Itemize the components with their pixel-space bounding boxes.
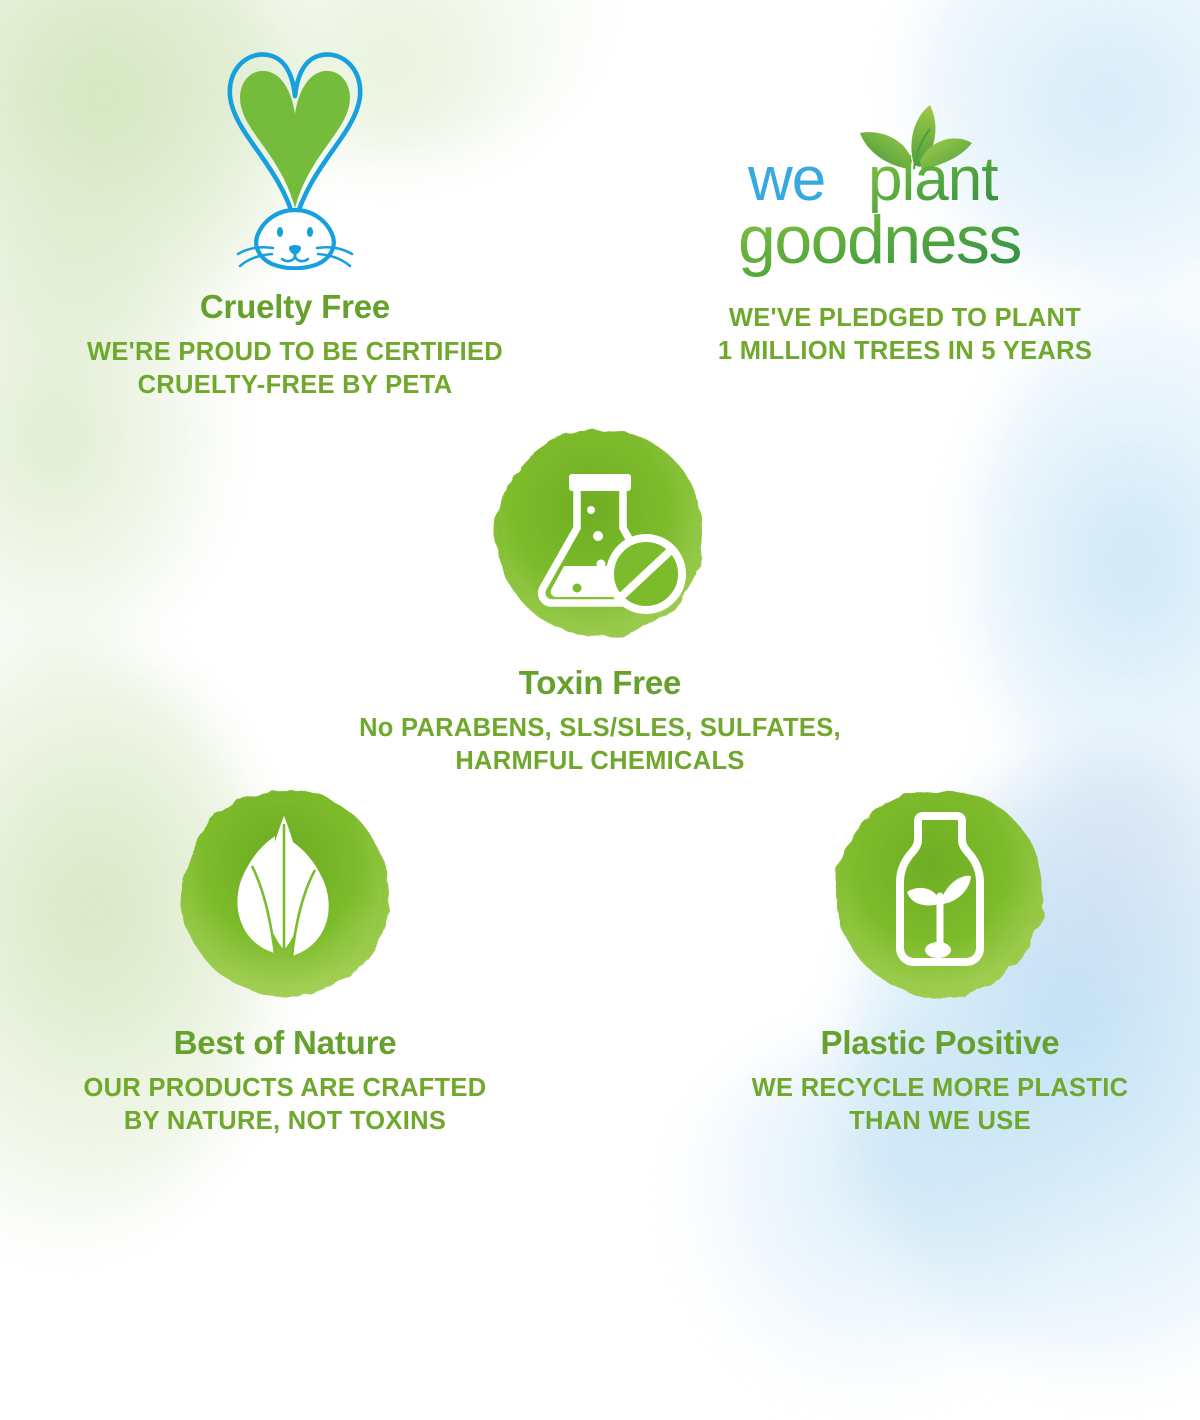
badge-we-plant-goodness: we plant goodness WE'VE PLEDGED TO PLANT… — [655, 95, 1155, 368]
badge-best-of-nature: Best of Nature OUR PRODUCTS ARE CRAFTED … — [35, 778, 535, 1138]
badge-body-line: WE RECYCLE MORE PLASTIC — [690, 1072, 1190, 1105]
badge-heading-plastic-positive: Plastic Positive — [690, 1026, 1190, 1061]
svg-text:goodness: goodness — [740, 202, 1021, 278]
badge-cruelty-free: Cruelty Free WE'RE PROUD TO BE CERTIFIED… — [45, 40, 545, 402]
badge-body-toxin-free: No PARABENS, SLS/SLES, SULFATES, HARMFUL… — [350, 712, 850, 778]
badge-body-line: HARMFUL CHEMICALS — [350, 745, 850, 778]
badge-body-we-plant-goodness: WE'VE PLEDGED TO PLANT 1 MILLION TREES I… — [655, 302, 1155, 368]
badge-body-line: WE'VE PLEDGED TO PLANT — [655, 302, 1155, 335]
badge-body-cruelty-free: WE'RE PROUD TO BE CERTIFIED CRUELTY-FREE… — [45, 336, 545, 402]
three-leaves-icon — [170, 778, 400, 1008]
badge-body-line: No PARABENS, SLS/SLES, SULFATES, — [350, 712, 850, 745]
badge-heading-best-of-nature: Best of Nature — [35, 1026, 535, 1061]
we-plant-goodness-logo: we plant goodness — [740, 95, 1070, 280]
peta-cruelty-free-bunny-icon — [190, 40, 400, 270]
bottle-sprout-icon — [825, 778, 1055, 1008]
badge-heading-toxin-free: Toxin Free — [350, 666, 850, 701]
badge-body-best-of-nature: OUR PRODUCTS ARE CRAFTED BY NATURE, NOT … — [35, 1072, 535, 1138]
benefits-infographic: Cruelty Free WE'RE PROUD TO BE CERTIFIED… — [0, 0, 1200, 1200]
badge-body-line: CRUELTY-FREE BY PETA — [45, 369, 545, 402]
badge-body-line: THAN WE USE — [690, 1105, 1190, 1138]
badge-heading-cruelty-free: Cruelty Free — [45, 290, 545, 325]
badge-body-line: OUR PRODUCTS ARE CRAFTED — [35, 1072, 535, 1105]
badge-toxin-free: Toxin Free No PARABENS, SLS/SLES, SULFAT… — [350, 418, 850, 778]
badge-body-line: 1 MILLION TREES IN 5 YEARS — [655, 335, 1155, 368]
badge-body-line: BY NATURE, NOT TOXINS — [35, 1105, 535, 1138]
badge-plastic-positive: Plastic Positive WE RECYCLE MORE PLASTIC… — [690, 778, 1190, 1138]
badge-body-plastic-positive: WE RECYCLE MORE PLASTIC THAN WE USE — [690, 1072, 1190, 1138]
flask-no-toxins-icon — [485, 418, 715, 648]
badge-body-line: WE'RE PROUD TO BE CERTIFIED — [45, 336, 545, 369]
